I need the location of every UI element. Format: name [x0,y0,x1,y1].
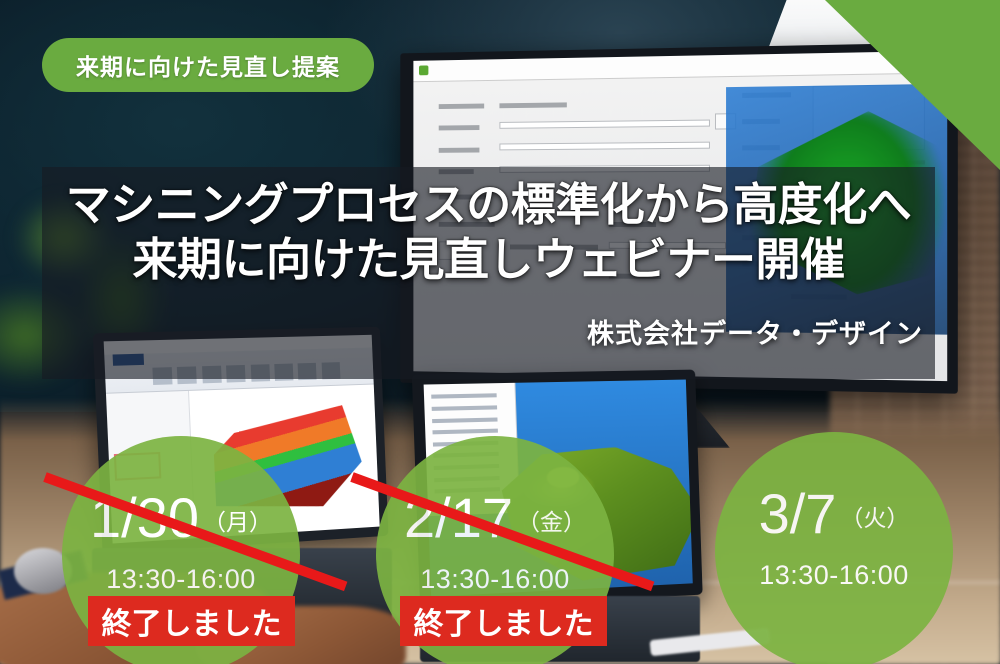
proposal-badge: 来期に向けた見直し提案 [42,38,374,92]
session-time-1: 13:30-16:00 [62,564,300,595]
webinar-banner: 来期に向けた見直し提案 マシニングプロセスの標準化から高度化へ 来期に向けた見直… [0,0,1000,664]
session-time-3: 13:30-16:00 [715,560,953,591]
session-dow-1: （月） [203,509,272,535]
title-line-2: 来期に向けた見直しウェビナー開催 [42,233,935,288]
title-block: マシニングプロセスの標準化から高度化へ 来期に向けた見直しウェビナー開催 [42,178,935,288]
session-date-3: 3/7（火） [715,486,953,542]
session-time-2: 13:30-16:00 [376,564,614,595]
dialog-titlebar [413,51,947,83]
finished-banner-2: 終了しました [400,596,607,646]
session-circle-3[interactable]: 3/7（火） 13:30-16:00 [715,432,953,664]
company-name: 株式会社データ・デザイン [42,312,935,351]
title-line-1: マシニングプロセスの標準化から高度化へ [42,178,935,233]
session-dow-2: （金） [517,509,586,535]
finished-banner-1: 終了しました [88,596,295,646]
session-dow-3: （火） [840,505,909,531]
session-date-text-3: 3/7 [759,482,837,545]
